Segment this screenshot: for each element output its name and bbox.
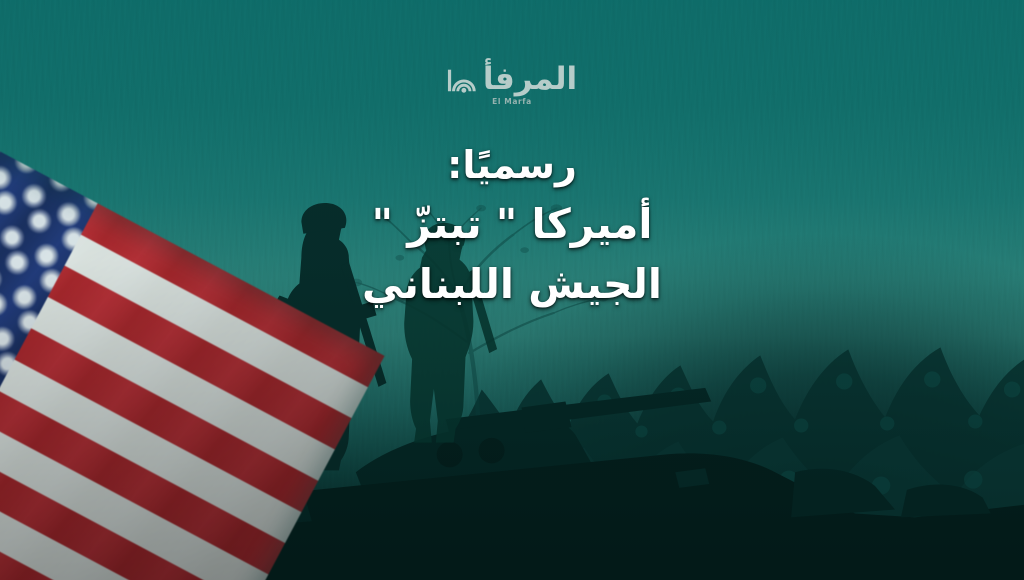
brand-logo-row: المرفأ — [447, 64, 577, 95]
brand-logo-subtitle: El Marfa — [492, 97, 532, 106]
brand-logo[interactable]: المرفأ El Marfa — [447, 64, 577, 106]
headline-line-3: الجيش اللبناني — [362, 254, 662, 314]
harbor-arcs-icon — [447, 65, 477, 95]
card-content: المرفأ El Marfa رسميًا: أميركا " تبتزّ "… — [0, 0, 1024, 580]
headline-line-2: أميركا " تبتزّ " — [362, 194, 662, 254]
headline-line-1: رسميًا: — [362, 138, 662, 194]
news-card: المرفأ El Marfa رسميًا: أميركا " تبتزّ "… — [0, 0, 1024, 580]
brand-logo-wordmark: المرفأ — [483, 64, 577, 95]
headline: رسميًا: أميركا " تبتزّ " الجيش اللبناني — [362, 138, 662, 314]
